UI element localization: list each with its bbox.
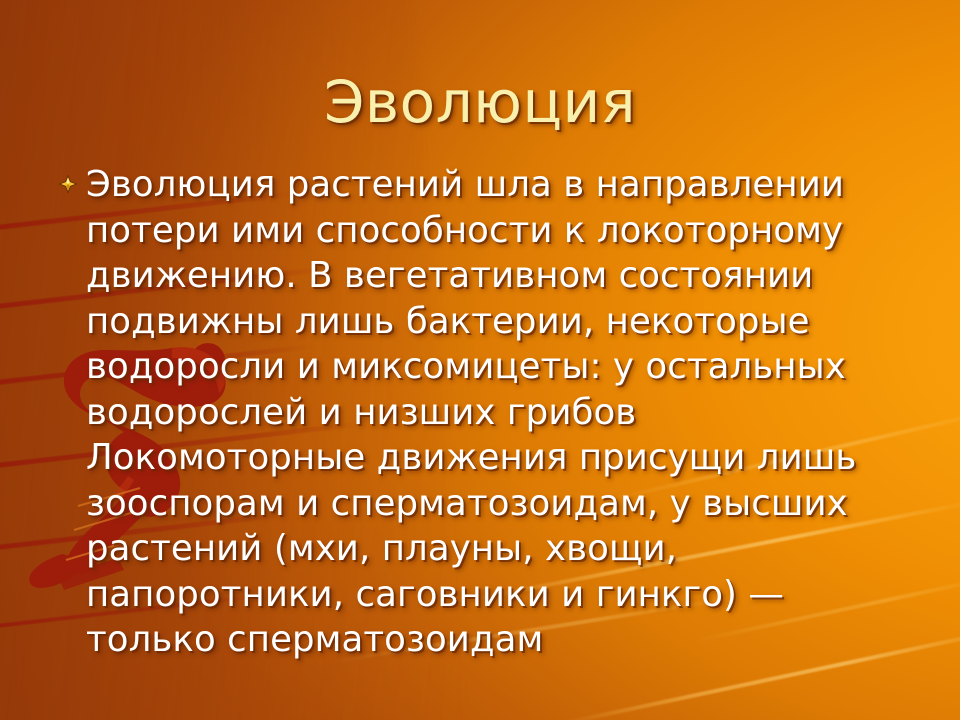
diamond-star-bullet-icon (58, 174, 78, 194)
slide-body-text: Эволюция растений шла в направлении поте… (86, 162, 916, 663)
slide-body-block: Эволюция растений шла в направлении поте… (58, 162, 916, 663)
slide-title: Эволюция (0, 72, 960, 133)
presentation-slide: Эволюция Эволюция растений шла в направл… (0, 0, 960, 720)
